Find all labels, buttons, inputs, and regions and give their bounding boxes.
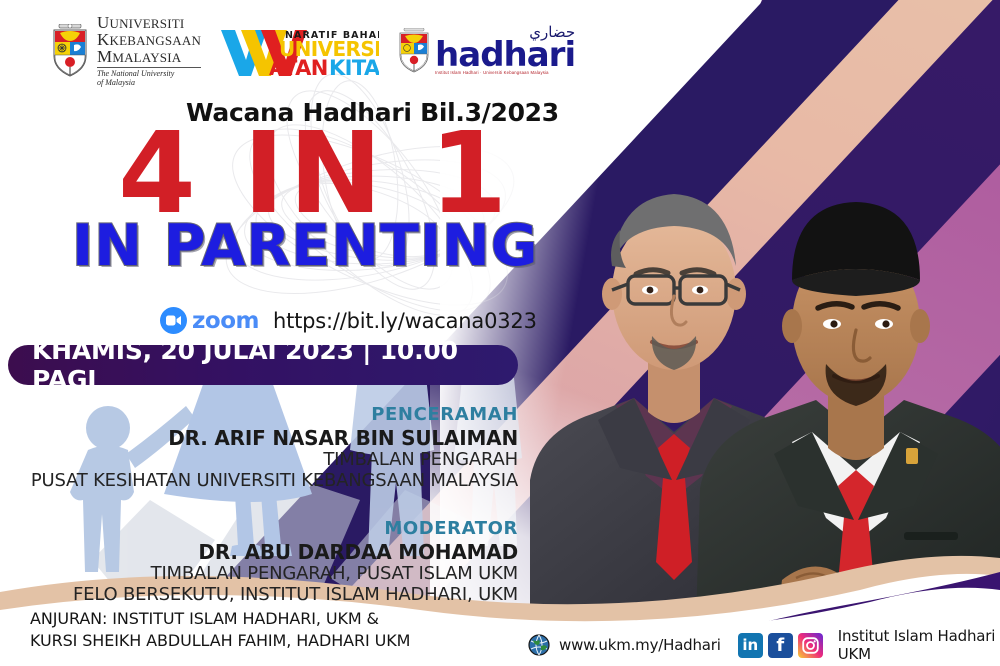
zoom-camera-icon <box>160 307 187 334</box>
organiser-line-1: ANJURAN: INSTITUT ISLAM HADHARI, UKM & <box>30 608 410 630</box>
facebook-icon[interactable]: f <box>768 633 793 658</box>
ukm-tagline-1: The National University <box>97 69 201 78</box>
ukm-line-2: KEBANGSAAN <box>109 33 201 48</box>
ukm-crest-icon <box>50 24 90 78</box>
moderator-affiliation-2: FELO BERSEKUTU, INSTITUT ISLAM HADHARI, … <box>0 585 518 606</box>
social-handle: Institut Islam Hadhari UKM <box>838 627 1000 663</box>
organiser-line-2: KURSI SHEIKH ABDULLAH FAHIM, HADHARI UKM <box>30 630 410 652</box>
ukm-line-3: MALAYSIA <box>112 50 181 65</box>
moderator-affiliation-1: TIMBALAN PENGARAH, PUSAT ISLAM UKM <box>0 564 518 585</box>
meeting-link[interactable]: https://bit.ly/wacana0323 <box>273 309 537 333</box>
hadhari-latin-text: hadhari <box>435 40 575 71</box>
watan-line-2a: ATAN <box>269 56 328 80</box>
instagram-icon[interactable] <box>798 633 823 658</box>
hadhari-crest-icon <box>397 28 431 74</box>
speaker-affiliation-2: PUSAT KESIHATAN UNIVERSITI KEBANGSAAN MA… <box>0 471 518 492</box>
linkedin-icon[interactable]: in <box>738 633 763 658</box>
people-block: PENCERAMAH DR. ARIF NASAR BIN SULAIMAN T… <box>0 404 518 606</box>
speaker-name: DR. ARIF NASAR BIN SULAIMAN <box>0 426 518 450</box>
zoom-logo: zoom <box>160 307 259 334</box>
ukm-wordmark: UUNIVERSITI KKEBANGSAAN MMALAYSIA The Na… <box>97 14 201 87</box>
speaker-affiliation-1: TIMBALAN PENGARAH <box>0 450 518 471</box>
ukm-line-1: UNIVERSITI <box>109 16 184 31</box>
globe-icon <box>528 634 550 656</box>
zoom-wordmark: zoom <box>192 308 259 334</box>
hadhari-wordmark: حضاري hadhari Institut Islam Hadhari · U… <box>435 26 575 75</box>
schedule-banner: KHAMIS, 20 JULAI 2023 | 10.00 PAGI <box>8 345 518 385</box>
schedule-text: KHAMIS, 20 JULAI 2023 | 10.00 PAGI <box>8 336 518 394</box>
logo-ukm: UUNIVERSITI KKEBANGSAAN MMALAYSIA The Na… <box>50 14 201 87</box>
organiser-block: ANJURAN: INSTITUT ISLAM HADHARI, UKM & K… <box>30 608 410 651</box>
website-url[interactable]: www.ukm.my/Hadhari <box>559 636 721 654</box>
moderator-name: DR. ABU DARDAA MOHAMAD <box>0 540 518 564</box>
platform-row: zoom https://bit.ly/wacana0323 <box>160 307 537 334</box>
ukm-tagline-2: of Malaysia <box>97 78 201 87</box>
poster-canvas: UUNIVERSITI KKEBANGSAAN MMALAYSIA The Na… <box>0 0 1000 666</box>
social-icons: in f <box>738 633 823 658</box>
moderator-role: MODERATOR <box>0 518 518 539</box>
headline-sub: IN PARENTING <box>72 218 539 275</box>
footer-bar: www.ukm.my/Hadhari in f Institut Islam H… <box>528 627 1000 663</box>
watan-line-2b: KITA <box>329 56 379 80</box>
speaker-role: PENCERAMAH <box>0 404 518 425</box>
moderator-entry: MODERATOR DR. ABU DARDAA MOHAMAD TIMBALA… <box>0 518 518 605</box>
logo-hadhari: حضاري hadhari Institut Islam Hadhari · U… <box>397 26 575 75</box>
speaker-entry: PENCERAMAH DR. ARIF NASAR BIN SULAIMAN T… <box>0 404 518 491</box>
logo-bar: UUNIVERSITI KKEBANGSAAN MMALAYSIA The Na… <box>50 14 575 87</box>
logo-watan-kita: NARATIF BAHARU UKM UNIVERSITI ATAN KITA <box>219 22 379 80</box>
